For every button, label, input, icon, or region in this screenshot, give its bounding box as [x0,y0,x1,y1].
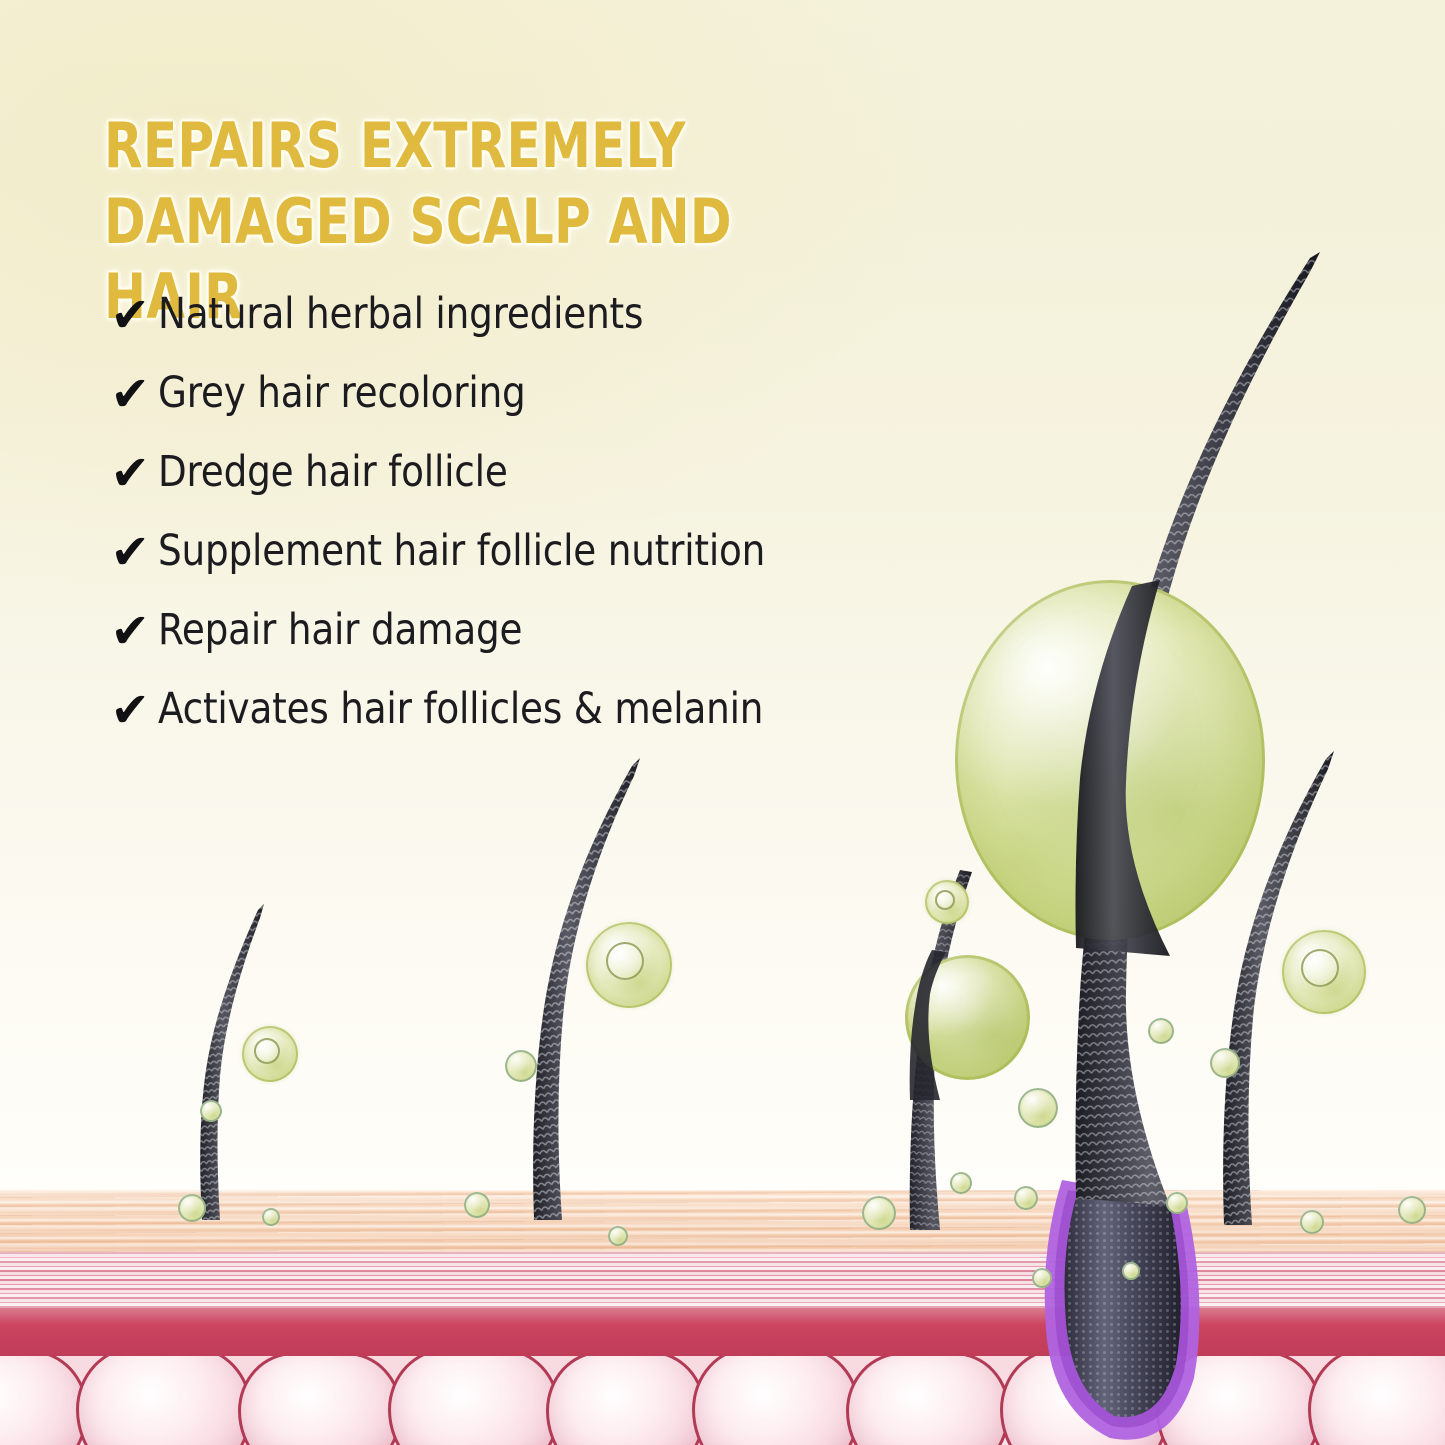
list-item: ✔ Natural herbal ingredients [112,292,972,371]
fat-cell [692,1356,860,1445]
check-icon: ✔ [111,608,160,656]
serum-bubble [505,1050,537,1082]
bubble-inner-ring [1301,949,1339,987]
serum-bubble [950,1172,972,1194]
fat-cell [0,1356,88,1445]
serum-bubble [862,1196,896,1230]
bubble-inner-ring [606,942,644,980]
benefit-label: Supplement hair follicle nutrition [158,530,765,573]
serum-bubble [1018,1088,1058,1128]
serum-bubble [1300,1210,1324,1234]
benefit-label: Dredge hair follicle [158,451,508,494]
serum-bubble [200,1100,222,1122]
benefit-label: Activates hair follicles & melanin [158,688,763,731]
hair-shaft-through-medium-droplet [880,950,1070,1100]
bubble-inner-ring [935,890,955,910]
serum-bubble [925,880,969,924]
serum-bubble [262,1208,280,1226]
check-icon: ✔ [111,292,160,340]
check-icon: ✔ [111,687,160,735]
hair-shaft-through-droplet [1010,560,1370,960]
list-item: ✔ Activates hair follicles & melanin [112,687,972,766]
fat-cell [388,1356,560,1445]
serum-bubble [1282,930,1366,1014]
benefits-list: ✔ Natural herbal ingredients ✔ Grey hair… [112,292,972,766]
bubble-inner-ring [254,1038,280,1064]
product-graphic-stage: REPAIRS EXTREMELY DAMAGED SCALP AND HAIR… [0,0,1445,1445]
serum-bubble [1210,1048,1240,1078]
benefit-label: Repair hair damage [158,609,522,652]
serum-bubble [608,1226,628,1246]
list-item: ✔ Supplement hair follicle nutrition [112,529,972,608]
check-icon: ✔ [111,529,160,577]
serum-bubble [242,1026,298,1082]
list-item: ✔ Repair hair damage [112,608,972,687]
serum-bubble [586,922,672,1008]
fat-cell [238,1356,402,1445]
serum-bubble [1148,1018,1174,1044]
serum-bubble [1166,1192,1188,1214]
serum-bubble [1032,1268,1052,1288]
list-item: ✔ Grey hair recoloring [112,371,972,450]
serum-bubble [464,1192,490,1218]
benefit-label: Grey hair recoloring [158,372,526,415]
serum-bubble [1122,1262,1140,1280]
check-icon: ✔ [111,450,160,498]
serum-bubble [1398,1196,1426,1224]
serum-bubble [178,1194,206,1222]
fat-cell [846,1356,1010,1445]
serum-bubble [1014,1186,1038,1210]
fat-cell [546,1356,706,1445]
fat-cell [76,1356,252,1445]
check-icon: ✔ [111,371,160,419]
list-item: ✔ Dredge hair follicle [112,450,972,529]
benefit-label: Natural herbal ingredients [158,293,643,336]
